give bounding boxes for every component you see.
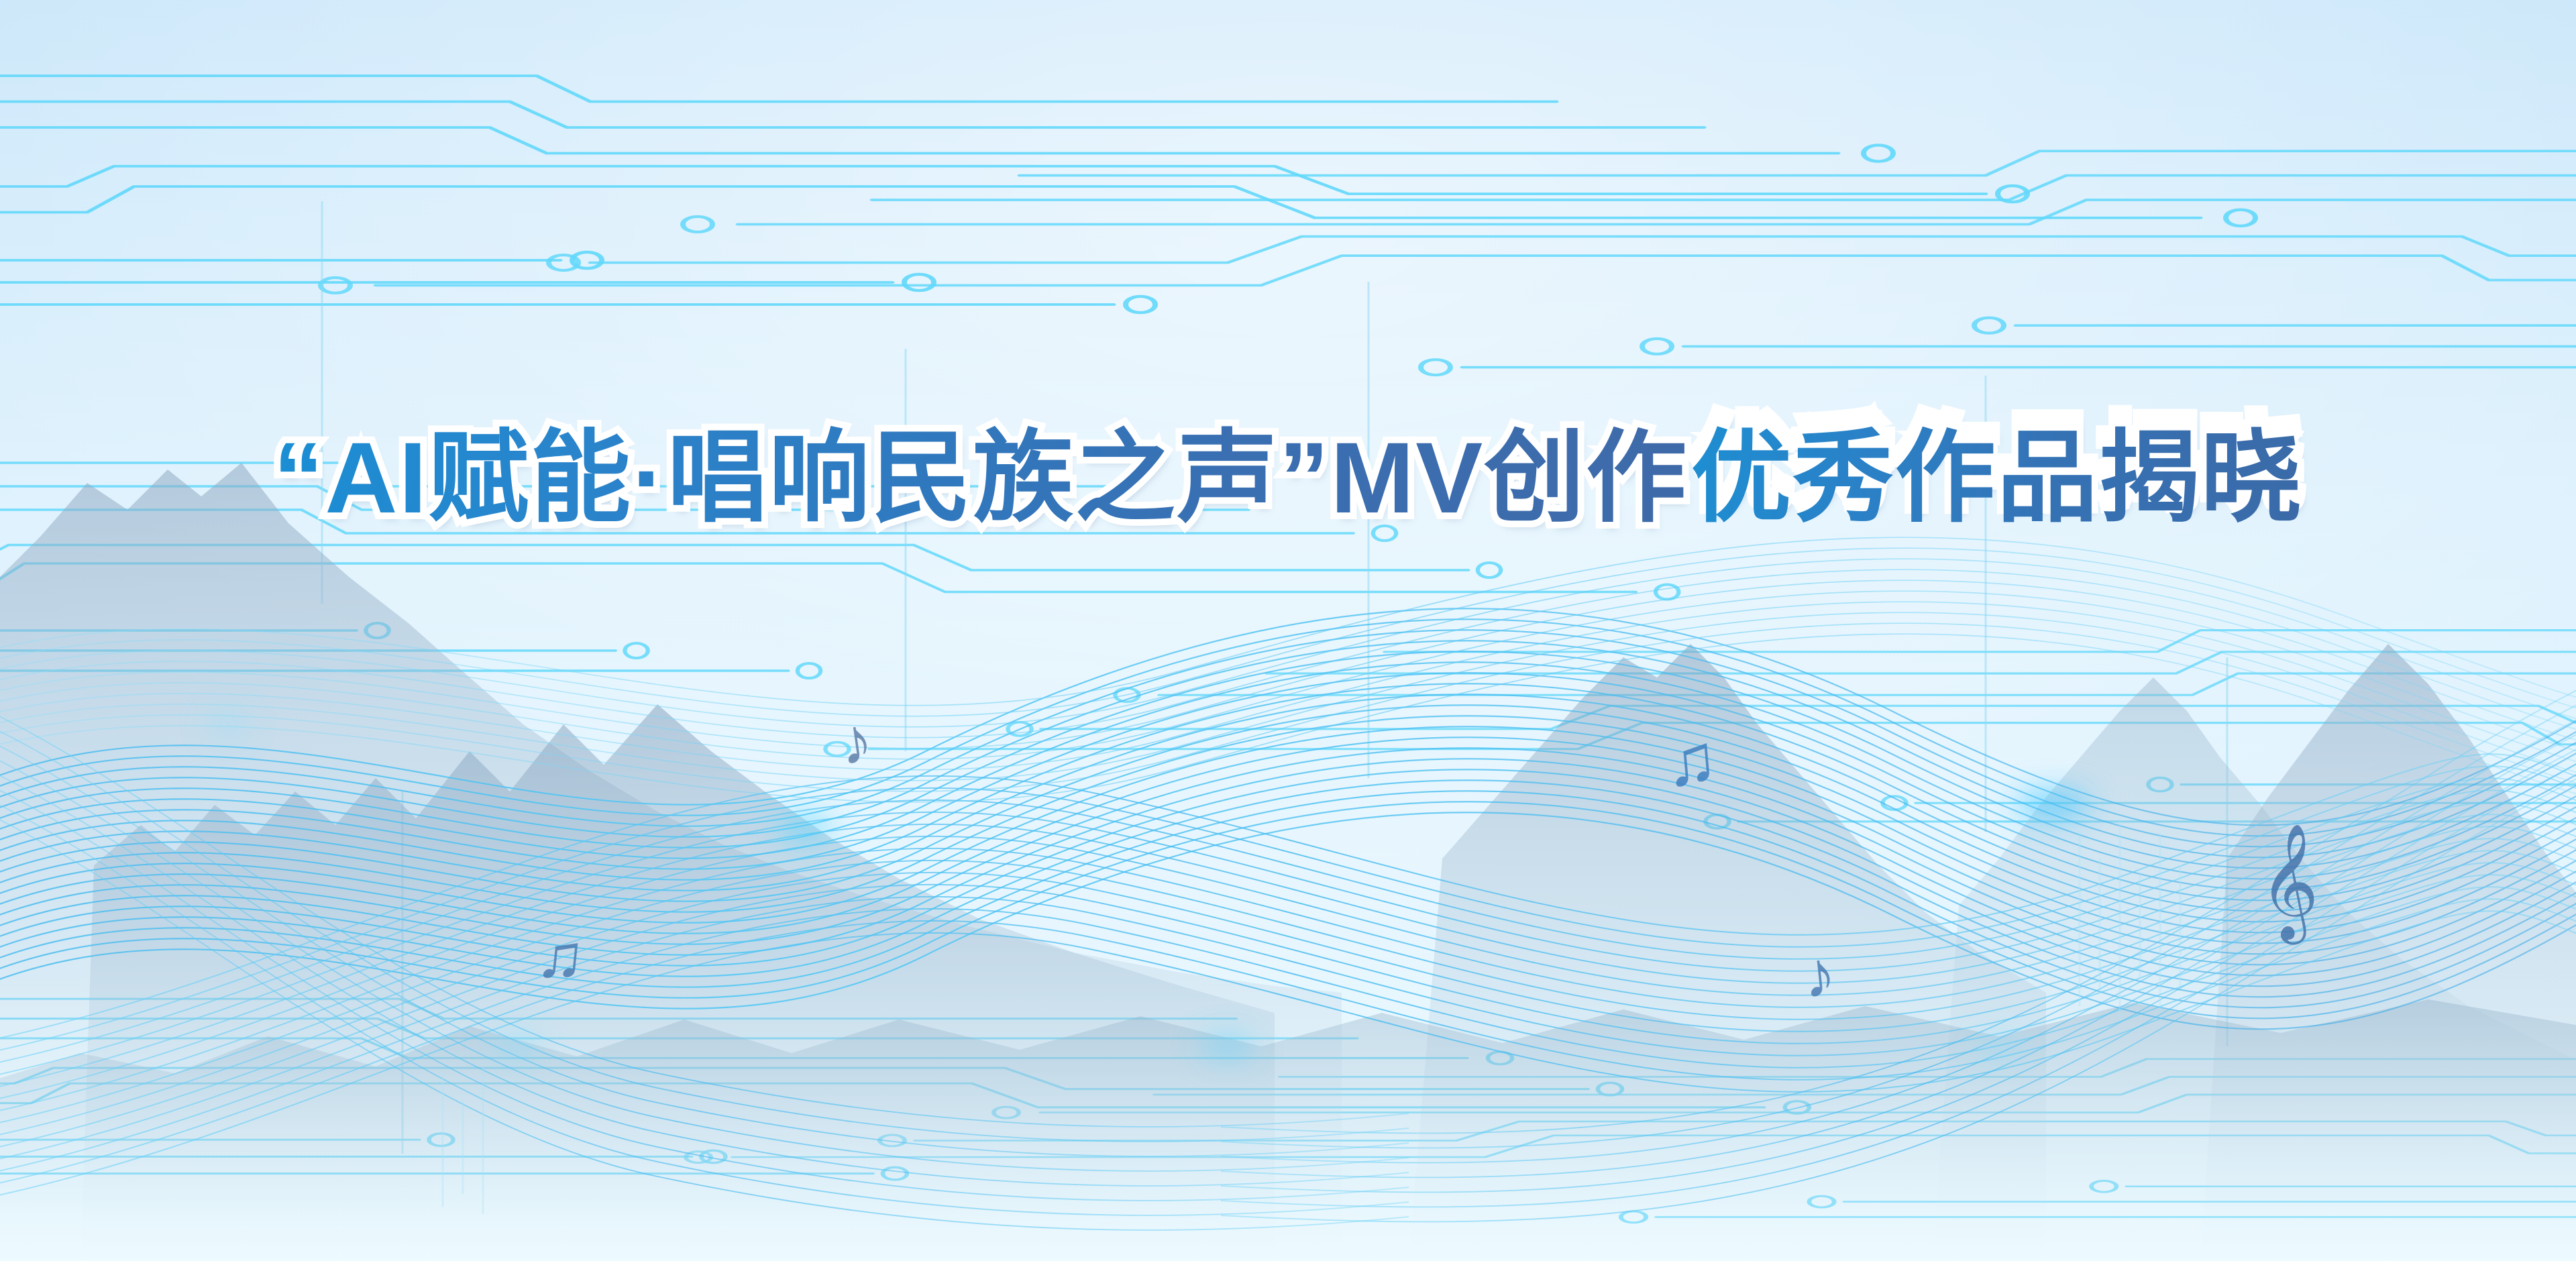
eighth-note-icon: ♪ <box>1800 942 1839 1009</box>
title-line-1: “AI赋能·唱响民族之声”MV创作 <box>273 421 1688 534</box>
title-line-2: 优秀作品揭晓 <box>1691 421 2303 534</box>
background-glow-layer <box>0 0 2576 1261</box>
eighth-note-icon: ♪ <box>836 708 877 776</box>
beamed-eighth-pair-icon: ♫ <box>533 922 588 991</box>
circuit-trace-layer <box>0 0 2576 1261</box>
beamed-eighth-pair-icon: ♫ <box>1662 724 1721 798</box>
title-line-2-wrap: 优秀作品揭晓 优秀作品揭晓 <box>1691 406 2303 534</box>
sound-wave-ribbon-layer <box>0 0 2576 1261</box>
treble-clef-icon: 𝄞 <box>2259 830 2319 931</box>
mountain-silhouette-layer <box>0 0 2576 1261</box>
award-banner: ♪ ♫ ♫ ♪ 𝄞 “AI赋能·唱响民族之声”MV创作 “AI赋能·唱响民族之声… <box>0 0 2576 1261</box>
title-line-1-wrap: “AI赋能·唱响民族之声”MV创作 “AI赋能·唱响民族之声”MV创作 <box>273 421 1688 534</box>
banner-title-block: “AI赋能·唱响民族之声”MV创作 “AI赋能·唱响民族之声”MV创作 优秀作品… <box>0 389 2576 534</box>
